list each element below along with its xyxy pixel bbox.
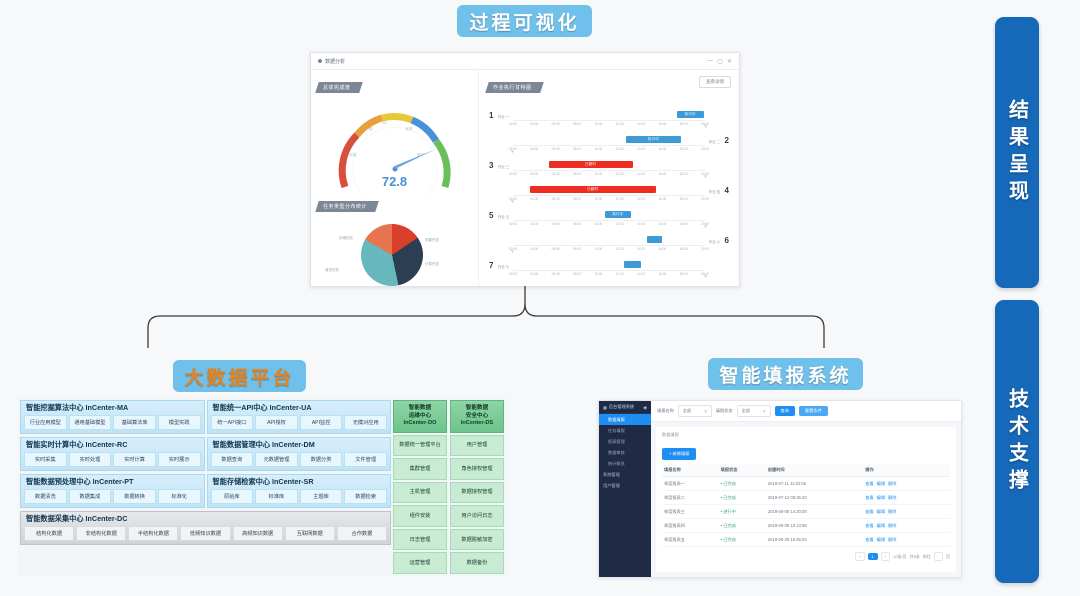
gantt-bar[interactable]: 执行中	[677, 111, 704, 118]
add-report-button[interactable]: + 新增填报	[662, 448, 696, 460]
gantt-row-name: 作业 六	[709, 239, 720, 244]
row-action-link[interactable]: 删除	[888, 537, 896, 542]
gantt-axis-tick: 08:00	[573, 147, 581, 151]
pagination: ‹ 1 › 10条/页 共5条 前往 页	[662, 552, 950, 561]
side-bar-technical-support: 技术支撑	[995, 300, 1039, 583]
gauge-label-poor: 较差	[350, 153, 357, 158]
dashboard-left-column: 总体完成度 一般 较差 良好 优秀 60 72.8	[311, 70, 479, 287]
gantt-axis-tick: 02:00	[509, 272, 517, 276]
chevron-down-icon[interactable]: ˅	[704, 224, 707, 230]
gantt-axis-tick: 10:00	[594, 122, 602, 126]
chevron-down-icon: ˅	[704, 409, 706, 414]
gantt-row-number: 3	[489, 161, 493, 170]
table-row[interactable]: 季度报表五• 已完成2019-08-20 16:45:02查看编辑删除	[662, 533, 950, 547]
gantt-row: 2作业 二02:0004:0006:0008:0010:0012:0014:00…	[487, 134, 731, 159]
gauge-label-good: 良好	[417, 153, 424, 158]
section-title-bigdata-platform: 大数据平台	[173, 360, 306, 392]
architecture-green-cell[interactable]: 主机管理	[393, 482, 447, 504]
dashboard-window-title: 数据分析	[325, 58, 345, 65]
page-title-label: 过程可视化	[469, 8, 579, 35]
gantt-axis-tick: 10:00	[594, 222, 602, 226]
architecture-chip[interactable]: 行业应用模型	[24, 415, 67, 430]
gantt-axis-tick: 04:00	[530, 247, 538, 251]
page-prev-button[interactable]: ‹	[855, 552, 864, 561]
table-cell-actions: 查看编辑删除	[863, 477, 950, 491]
gauge-panel-title: 总体完成度	[323, 84, 351, 91]
architecture-green-cell[interactable]: 用户访问日志	[450, 505, 504, 527]
gauge-tick-60: 60	[383, 121, 387, 125]
gantt-row-number: 2	[725, 136, 729, 145]
gantt-row-name: 作业 一	[498, 114, 509, 119]
architecture-module-items: 数据查询元数据管理数据分类文件管理	[211, 452, 388, 467]
architecture-row: 智能挖掘算法中心 InCenter-MA行业应用模型通用基础模型基础算法库模型实…	[20, 400, 391, 434]
chevron-down-icon[interactable]: ˅	[511, 199, 514, 205]
filter-label-1: 填报名称	[657, 408, 674, 414]
maximize-icon[interactable]: ▢	[717, 58, 723, 65]
filter-select-2[interactable]: 全部 ˅	[737, 405, 771, 417]
architecture-diagram: 智能挖掘算法中心 InCenter-MA行业应用模型通用基础模型基础算法库模型实…	[18, 398, 508, 576]
gantt-axis-tick: 06:00	[552, 247, 560, 251]
architecture-module-title: 智能数据采集中心 InCenter-DC	[24, 514, 387, 524]
app-logo-icon	[318, 59, 322, 63]
table-header-row: 填报名称填报状态创建时间操作	[662, 464, 950, 477]
table-column-header: 操作	[863, 464, 950, 477]
gantt-row-number: 6	[725, 236, 729, 245]
architecture-green-cell[interactable]: 数据统一管理平台	[393, 435, 447, 457]
gantt-axis-tick: 14:00	[637, 197, 645, 201]
table-cell-status: • 已完成	[719, 533, 766, 547]
admin-logo-label: 后台管理系统	[609, 404, 634, 410]
row-action-link[interactable]: 编辑	[877, 481, 885, 486]
architecture-chip[interactable]: 标准库	[255, 489, 298, 504]
pie-label-2: 清洗任务	[325, 268, 339, 273]
minimize-icon[interactable]: —	[707, 58, 713, 65]
admin-panel-screenshot: ▦ 后台管理系统 ◉ 数据填报任务填报报表管理数据审核统计概览系统管理用户管理 …	[598, 400, 962, 578]
architecture-module-items: 统一API接口API授权API监控无模对应用	[211, 415, 388, 430]
filter-select-1-value: 全部	[683, 408, 691, 414]
close-icon[interactable]: ✕	[727, 58, 732, 65]
row-action-link[interactable]: 查看	[865, 481, 873, 486]
gantt-axis-tick: 10:00	[594, 197, 602, 201]
gantt-axis-tick: 18:00	[680, 172, 688, 176]
pie-chart: 采集任务 计算任务 清洗任务 存储任务	[317, 218, 467, 287]
gantt-panel-title: 作业执行甘特图	[493, 84, 532, 91]
gantt-row: 1作业 一02:0004:0006:0008:0010:0012:0014:00…	[487, 109, 731, 134]
pie-label-3: 存储任务	[339, 236, 353, 241]
architecture-green-column: 智能数据安全中心InCenter-DS用户管理角色授权管理数据授权管理用户访问日…	[450, 400, 504, 574]
gantt-axis-tick: 08:00	[573, 247, 581, 251]
filter-select-2-value: 全部	[742, 408, 750, 414]
pie-panel-tag: 任务类型分布统计	[315, 201, 379, 212]
gantt-axis: 02:0004:0006:0008:0010:0012:0014:0016:00…	[513, 170, 705, 171]
architecture-green-title[interactable]: 智能数据安全中心InCenter-DS	[450, 400, 504, 433]
side-bar-label-1: 结果呈现	[1003, 99, 1032, 207]
architecture-module-title: 智能挖掘算法中心 InCenter-MA	[24, 403, 201, 413]
table-cell-status: • 已完成	[719, 491, 766, 505]
architecture-module-title: 智能数据管理中心 InCenter-DM	[211, 440, 388, 450]
admin-menu-item[interactable]: 系统管理	[599, 469, 651, 480]
gantt-axis-tick: 16:00	[658, 147, 666, 151]
gantt-axis-tick: 10:00	[594, 172, 602, 176]
gantt-axis-tick: 12:00	[616, 247, 624, 251]
side-bar-label-2: 技术支撑	[1003, 388, 1032, 496]
admin-menu-item[interactable]: 数据填报	[599, 414, 651, 425]
architecture-chip[interactable]: API监控	[300, 415, 343, 430]
gantt-axis-tick: 02:00	[509, 172, 517, 176]
architecture-green-cell[interactable]: 集群管理	[393, 458, 447, 480]
architecture-module-items: 数据清洗数据集成数据转换标准化	[24, 489, 201, 504]
architecture-green-column: 智能数据运维中心InCenter-DO数据统一管理平台集群管理主机管理组件安装日…	[393, 400, 447, 574]
gantt-axis-tick: 18:00	[680, 272, 688, 276]
architecture-chip[interactable]: 低频知识数据	[180, 526, 230, 541]
row-action-link[interactable]: 删除	[888, 523, 896, 528]
gantt-axis-tick: 10:00	[594, 247, 602, 251]
reset-button[interactable]: 重置条件	[799, 406, 828, 416]
gantt-axis-tick: 20:00	[701, 247, 709, 251]
gauge-chart: 一般 较差 良好 优秀 60 72.8	[320, 97, 470, 195]
status-badge: • 已完成	[721, 523, 736, 528]
status-badge: • 已完成	[721, 495, 736, 500]
row-action-link[interactable]: 查看	[865, 495, 873, 500]
page-size-label[interactable]: 10条/页	[893, 554, 907, 560]
gantt-axis-tick: 16:00	[658, 197, 666, 201]
architecture-green-cell[interactable]: 组件安装	[393, 505, 447, 527]
gantt-axis: 02:0004:0006:0008:0010:0012:0014:0016:00…	[513, 270, 705, 271]
architecture-green-cell[interactable]: 用户管理	[450, 435, 504, 457]
gantt-row-name: 作业 七	[498, 264, 509, 269]
gantt-axis-tick: 08:00	[573, 172, 581, 176]
gantt-axis: 02:0004:0006:0008:0010:0012:0014:0016:00…	[513, 195, 705, 196]
architecture-module-collect[interactable]: 智能数据采集中心 InCenter-DC结构化数据非结构化数据半结构化数据低频知…	[20, 511, 391, 545]
gantt-axis-tick: 04:00	[530, 147, 538, 151]
dashboard-right-column: 作业执行甘特图 查看详情 1作业 一02:0004:0006:0008:0010…	[479, 70, 739, 287]
architecture-chip[interactable]: 标准化	[158, 489, 201, 504]
gantt-row-name: 作业 五	[498, 214, 509, 219]
architecture-chip[interactable]: 数据查询	[211, 452, 254, 467]
table-cell-time: 2019-07-11 11:02:05	[766, 477, 863, 491]
gantt-row-name: 作业 三	[498, 164, 509, 169]
gantt-bar[interactable]: 执行中	[605, 211, 630, 218]
architecture-chip[interactable]: 原始库	[211, 489, 254, 504]
gantt-axis-tick: 08:00	[573, 222, 581, 226]
gantt-axis-tick: 16:00	[658, 247, 666, 251]
gantt-axis-tick: 06:00	[552, 172, 560, 176]
architecture-chip[interactable]: 无模对应用	[344, 415, 387, 430]
table-row[interactable]: 季度报表一• 已完成2019-07-11 11:02:05查看编辑删除	[662, 477, 950, 491]
section-title-reporting-system: 智能填报系统	[708, 358, 863, 390]
architecture-green-cell[interactable]: 数据授权管理	[450, 482, 504, 504]
gantt-detail-button[interactable]: 查看详情	[699, 76, 731, 88]
table-cell-time: 2019-08-05 14:20:08	[766, 505, 863, 519]
architecture-chip[interactable]: 通用基础模型	[69, 415, 112, 430]
gantt-bar[interactable]: 已超时	[549, 161, 633, 168]
gantt-row-number: 1	[489, 111, 493, 120]
gantt-bar[interactable]	[624, 261, 641, 268]
gantt-bar-label: 已超时	[530, 186, 656, 193]
pie-panel-title: 任务类型分布统计	[323, 203, 367, 210]
table-row[interactable]: 季度报表二• 已完成2019-07-12 09:36:40查看编辑删除	[662, 491, 950, 505]
gantt-axis: 02:0004:0006:0008:0010:0012:0014:0016:00…	[513, 120, 705, 121]
user-avatar-icon[interactable]: ◉	[643, 405, 647, 410]
row-action-link[interactable]: 查看	[865, 537, 873, 542]
row-action-link[interactable]: 编辑	[877, 495, 885, 500]
architecture-row: 智能实时计算中心 InCenter-RC实时采集实时处理实时计算实时展示智能数据…	[20, 437, 391, 471]
gantt-axis-tick: 04:00	[530, 222, 538, 226]
gantt-axis-tick: 12:00	[616, 122, 624, 126]
gantt-axis-tick: 20:00	[701, 197, 709, 201]
admin-menu: 数据填报任务填报报表管理数据审核统计概览系统管理用户管理	[599, 414, 651, 491]
architecture-chip[interactable]: 合作数据	[337, 526, 387, 541]
gantt-axis-tick: 14:00	[637, 247, 645, 251]
gantt-axis-tick: 06:00	[552, 147, 560, 151]
architecture-chip[interactable]: 结构化数据	[24, 526, 74, 541]
gantt-bar-label: 执行中	[605, 211, 630, 218]
gantt-panel-tag: 作业执行甘特图	[485, 82, 543, 93]
gantt-axis-tick: 04:00	[530, 197, 538, 201]
admin-menu-item[interactable]: 数据审核	[599, 447, 651, 458]
search-button[interactable]: 查询	[775, 406, 795, 416]
architecture-green-title[interactable]: 智能数据运维中心InCenter-DO	[393, 400, 447, 433]
gantt-axis-tick: 14:00	[637, 272, 645, 276]
gantt-axis-tick: 18:00	[680, 147, 688, 151]
gantt-bar-label: 执行中	[677, 111, 704, 118]
table-cell-status: • 已完成	[719, 477, 766, 491]
table-column-header: 填报名称	[662, 464, 719, 477]
gantt-axis-tick: 14:00	[637, 222, 645, 226]
gantt-axis-tick: 06:00	[552, 222, 560, 226]
pie-label-1: 计算任务	[425, 262, 439, 267]
admin-logo: ▦ 后台管理系统 ◉	[599, 401, 651, 414]
report-table: 填报名称填报状态创建时间操作 季度报表一• 已完成2019-07-11 11:0…	[662, 464, 950, 547]
pie-label-0: 采集任务	[425, 238, 439, 243]
chevron-down-icon[interactable]: ˅	[511, 149, 514, 155]
chevron-down-icon[interactable]: ˅	[704, 124, 707, 130]
architecture-module-items: 实时采集实时处理实时计算实时展示	[24, 452, 201, 467]
architecture-chip[interactable]: 统一API接口	[211, 415, 254, 430]
admin-menu-item[interactable]: 用户管理	[599, 480, 651, 491]
row-action-link[interactable]: 编辑	[877, 509, 885, 514]
gauge-label-excellent: 优秀	[406, 127, 413, 132]
row-action-link[interactable]: 删除	[888, 495, 896, 500]
gantt-row: 4作业 四02:0004:0006:0008:0010:0012:0014:00…	[487, 184, 731, 209]
architecture-module-items: 原始库标准库主题库数据检索	[211, 489, 388, 504]
gantt-axis-tick: 14:00	[637, 122, 645, 126]
gantt-row: 3作业 三02:0004:0006:0008:0010:0012:0014:00…	[487, 159, 731, 184]
table-cell-status: • 已完成	[719, 519, 766, 533]
chevron-down-icon[interactable]: ˅	[511, 249, 514, 255]
gantt-axis-tick: 04:00	[530, 272, 538, 276]
architecture-chip[interactable]: 基础算法库	[113, 415, 156, 430]
architecture-chip[interactable]: 实时采集	[24, 452, 67, 467]
chevron-down-icon-2: ˅	[763, 409, 765, 414]
architecture-chip[interactable]: 数据转换	[113, 489, 156, 504]
gantt-axis-tick: 20:00	[701, 147, 709, 151]
gantt-axis-tick: 18:00	[680, 197, 688, 201]
row-action-link[interactable]: 查看	[865, 523, 873, 528]
chevron-down-icon[interactable]: ˅	[704, 274, 707, 280]
connector-brace	[140, 286, 840, 356]
architecture-chip[interactable]: 高频知识数据	[233, 526, 283, 541]
gantt-axis-tick: 16:00	[658, 122, 666, 126]
gantt-axis-tick: 14:00	[637, 147, 645, 151]
row-action-link[interactable]: 删除	[888, 481, 896, 486]
table-row[interactable]: 季度报表三• 进行中2019-08-05 14:20:08查看编辑删除	[662, 505, 950, 519]
architecture-chip[interactable]: 实时计算	[113, 452, 156, 467]
gantt-axis-tick: 04:00	[530, 172, 538, 176]
architecture-module[interactable]: 智能数据预处理中心 InCenter-PT数据清洗数据集成数据转换标准化	[20, 474, 205, 508]
page-unit-label: 页	[946, 554, 950, 560]
architecture-green-cell[interactable]: 日志管理	[393, 529, 447, 551]
gantt-row-name: 作业 二	[709, 139, 720, 144]
gantt-axis-tick: 12:00	[616, 147, 624, 151]
admin-menu-item[interactable]: 报表管理	[599, 436, 651, 447]
architecture-module[interactable]: 智能存储检索中心 InCenter-SR原始库标准库主题库数据检索	[207, 474, 392, 508]
row-action-link[interactable]: 编辑	[877, 537, 885, 542]
gantt-axis: 02:0004:0006:0008:0010:0012:0014:0016:00…	[513, 145, 705, 146]
architecture-green-cell[interactable]: 角色授权管理	[450, 458, 504, 480]
chevron-down-icon[interactable]: ˅	[704, 174, 707, 180]
status-badge: • 进行中	[721, 509, 736, 514]
breadcrumb: 数据填报	[662, 432, 950, 438]
table-cell-actions: 查看编辑删除	[863, 533, 950, 547]
admin-menu-item[interactable]: 任务填报	[599, 425, 651, 436]
architecture-chip[interactable]: 文件管理	[344, 452, 387, 467]
filter-select-1[interactable]: 全部 ˅	[678, 405, 712, 417]
gantt-axis-tick: 08:00	[573, 197, 581, 201]
table-cell-time: 2019-07-12 09:36:40	[766, 491, 863, 505]
architecture-module[interactable]: 智能挖掘算法中心 InCenter-MA行业应用模型通用基础模型基础算法库模型实…	[20, 400, 205, 434]
page-goto-input[interactable]	[934, 552, 943, 561]
table-cell-name: 季度报表五	[662, 533, 719, 547]
architecture-green-cell[interactable]: 数据脱敏加密	[450, 529, 504, 551]
table-cell-name: 季度报表三	[662, 505, 719, 519]
table-cell-actions: 查看编辑删除	[863, 491, 950, 505]
gauge-label-fair: 一般	[366, 127, 373, 132]
gantt-row: 5作业 五02:0004:0006:0008:0010:0012:0014:00…	[487, 209, 731, 234]
pie-slices	[361, 224, 423, 286]
gantt-axis-tick: 04:00	[530, 122, 538, 126]
architecture-green-columns: 智能数据运维中心InCenter-DO数据统一管理平台集群管理主机管理组件安装日…	[393, 398, 506, 576]
architecture-chip[interactable]: 实时处理	[69, 452, 112, 467]
table-cell-name: 季度报表四	[662, 519, 719, 533]
architecture-module-title: 智能数据预处理中心 InCenter-PT	[24, 477, 201, 487]
admin-main: 填报名称 全部 ˅ 填报状态 全部 ˅ 查询 重置条件 数据填报 + 新增填报 …	[651, 401, 961, 577]
gantt-row-number: 4	[725, 186, 729, 195]
gauge-panel-tag: 总体完成度	[315, 82, 362, 93]
dashboard-titlebar: 数据分析 — ▢ ✕	[311, 53, 739, 70]
gantt-row-number: 7	[489, 261, 493, 270]
architecture-chip[interactable]: 半结构化数据	[128, 526, 178, 541]
admin-filter-bar: 填报名称 全部 ˅ 填报状态 全部 ˅ 查询 重置条件	[651, 401, 961, 422]
architecture-module-title: 智能实时计算中心 InCenter-RC	[24, 440, 201, 450]
architecture-chip[interactable]: 主题库	[300, 489, 343, 504]
gantt-axis-tick: 06:00	[552, 122, 560, 126]
table-cell-name: 季度报表二	[662, 491, 719, 505]
admin-menu-item[interactable]: 统计概览	[599, 458, 651, 469]
architecture-chip[interactable]: 元数据管理	[255, 452, 298, 467]
gantt-axis-tick: 12:00	[616, 197, 624, 201]
page-total-label: 共5条	[910, 554, 920, 560]
table-row[interactable]: 季度报表四• 已完成2019-08-09 10:13:56查看编辑删除	[662, 519, 950, 533]
gantt-axis: 02:0004:0006:0008:0010:0012:0014:0016:00…	[513, 245, 705, 246]
architecture-chip[interactable]: 数据分类	[300, 452, 343, 467]
gantt-axis-tick: 18:00	[680, 122, 688, 126]
admin-content: 数据填报 + 新增填报 填报名称填报状态创建时间操作 季度报表一• 已完成201…	[656, 427, 956, 572]
row-action-link[interactable]: 查看	[865, 509, 873, 514]
dashboard-window-controls: — ▢ ✕	[707, 58, 732, 65]
gantt-axis-tick: 14:00	[637, 172, 645, 176]
gantt-axis-tick: 08:00	[573, 122, 581, 126]
status-badge: • 已完成	[721, 537, 736, 542]
gantt-bar[interactable]: 已超时	[530, 186, 656, 193]
gantt-bar-label: 执行中	[626, 136, 681, 143]
table-cell-actions: 查看编辑删除	[863, 505, 950, 519]
gantt-axis: 02:0004:0006:0008:0010:0012:0014:0016:00…	[513, 220, 705, 221]
architecture-module-items: 行业应用模型通用基础模型基础算法库模型实践	[24, 415, 201, 430]
architecture-green-cell[interactable]: 数据备份	[450, 552, 504, 574]
architecture-module-items: 结构化数据非结构化数据半结构化数据低频知识数据高频知识数据互联网数据合作数据	[24, 526, 387, 541]
table-cell-time: 2019-08-09 10:13:56	[766, 519, 863, 533]
table-column-header: 创建时间	[766, 464, 863, 477]
architecture-green-cell[interactable]: 运营管理	[393, 552, 447, 574]
architecture-chip[interactable]: 非结构化数据	[76, 526, 126, 541]
gantt-bar[interactable]: 执行中	[626, 136, 681, 143]
table-cell-name: 季度报表一	[662, 477, 719, 491]
table-column-header: 填报状态	[719, 464, 766, 477]
page-next-button[interactable]: ›	[881, 552, 890, 561]
architecture-module[interactable]: 智能数据管理中心 InCenter-DM数据查询元数据管理数据分类文件管理	[207, 437, 392, 471]
architecture-chip[interactable]: API授权	[255, 415, 298, 430]
architecture-chip[interactable]: 实时展示	[158, 452, 201, 467]
page-goto-label: 前往	[923, 554, 931, 560]
gantt-row: 7作业 七02:0004:0006:0008:0010:0012:0014:00…	[487, 259, 731, 284]
architecture-chip[interactable]: 模型实践	[158, 415, 201, 430]
gantt-row-name: 作业 四	[709, 189, 720, 194]
architecture-chip[interactable]: 互联网数据	[285, 526, 335, 541]
gantt-axis-tick: 12:00	[616, 222, 624, 226]
architecture-chip[interactable]: 数据检索	[344, 489, 387, 504]
architecture-chip[interactable]: 数据集成	[69, 489, 112, 504]
gantt-axis-tick: 02:00	[509, 122, 517, 126]
gantt-axis-tick: 18:00	[680, 247, 688, 251]
grid-icon: ▦	[603, 405, 607, 410]
gauge-value: 72.8	[320, 174, 470, 189]
architecture-chip[interactable]: 数据清洗	[24, 489, 67, 504]
gantt-bar[interactable]	[647, 236, 662, 243]
architecture-module-title: 智能存储检索中心 InCenter-SR	[211, 477, 388, 487]
gantt-axis-tick: 10:00	[594, 147, 602, 151]
gantt-axis-tick: 08:00	[573, 272, 581, 276]
gantt-axis-tick: 18:00	[680, 222, 688, 226]
page-current[interactable]: 1	[868, 553, 878, 560]
table-cell-status: • 进行中	[719, 505, 766, 519]
architecture-module[interactable]: 智能实时计算中心 InCenter-RC实时采集实时处理实时计算实时展示	[20, 437, 205, 471]
gantt-axis-tick: 12:00	[616, 172, 624, 176]
table-cell-time: 2019-08-20 16:45:02	[766, 533, 863, 547]
row-action-link[interactable]: 编辑	[877, 523, 885, 528]
row-action-link[interactable]: 删除	[888, 509, 896, 514]
gantt-bar-label: 已超时	[549, 161, 633, 168]
gantt-axis-tick: 10:00	[594, 272, 602, 276]
left-pill-label: 大数据平台	[184, 363, 294, 390]
page-title-process-visualization: 过程可视化	[457, 5, 592, 37]
architecture-module[interactable]: 智能统一API中心 InCenter-UA统一API接口API授权API监控无模…	[207, 400, 392, 434]
gantt-row-number: 5	[489, 211, 493, 220]
right-pill-label: 智能填报系统	[719, 361, 851, 388]
architecture-module-title: 智能统一API中心 InCenter-UA	[211, 403, 388, 413]
table-body: 季度报表一• 已完成2019-07-11 11:02:05查看编辑删除季度报表二…	[662, 477, 950, 547]
gantt-axis-tick: 06:00	[552, 197, 560, 201]
